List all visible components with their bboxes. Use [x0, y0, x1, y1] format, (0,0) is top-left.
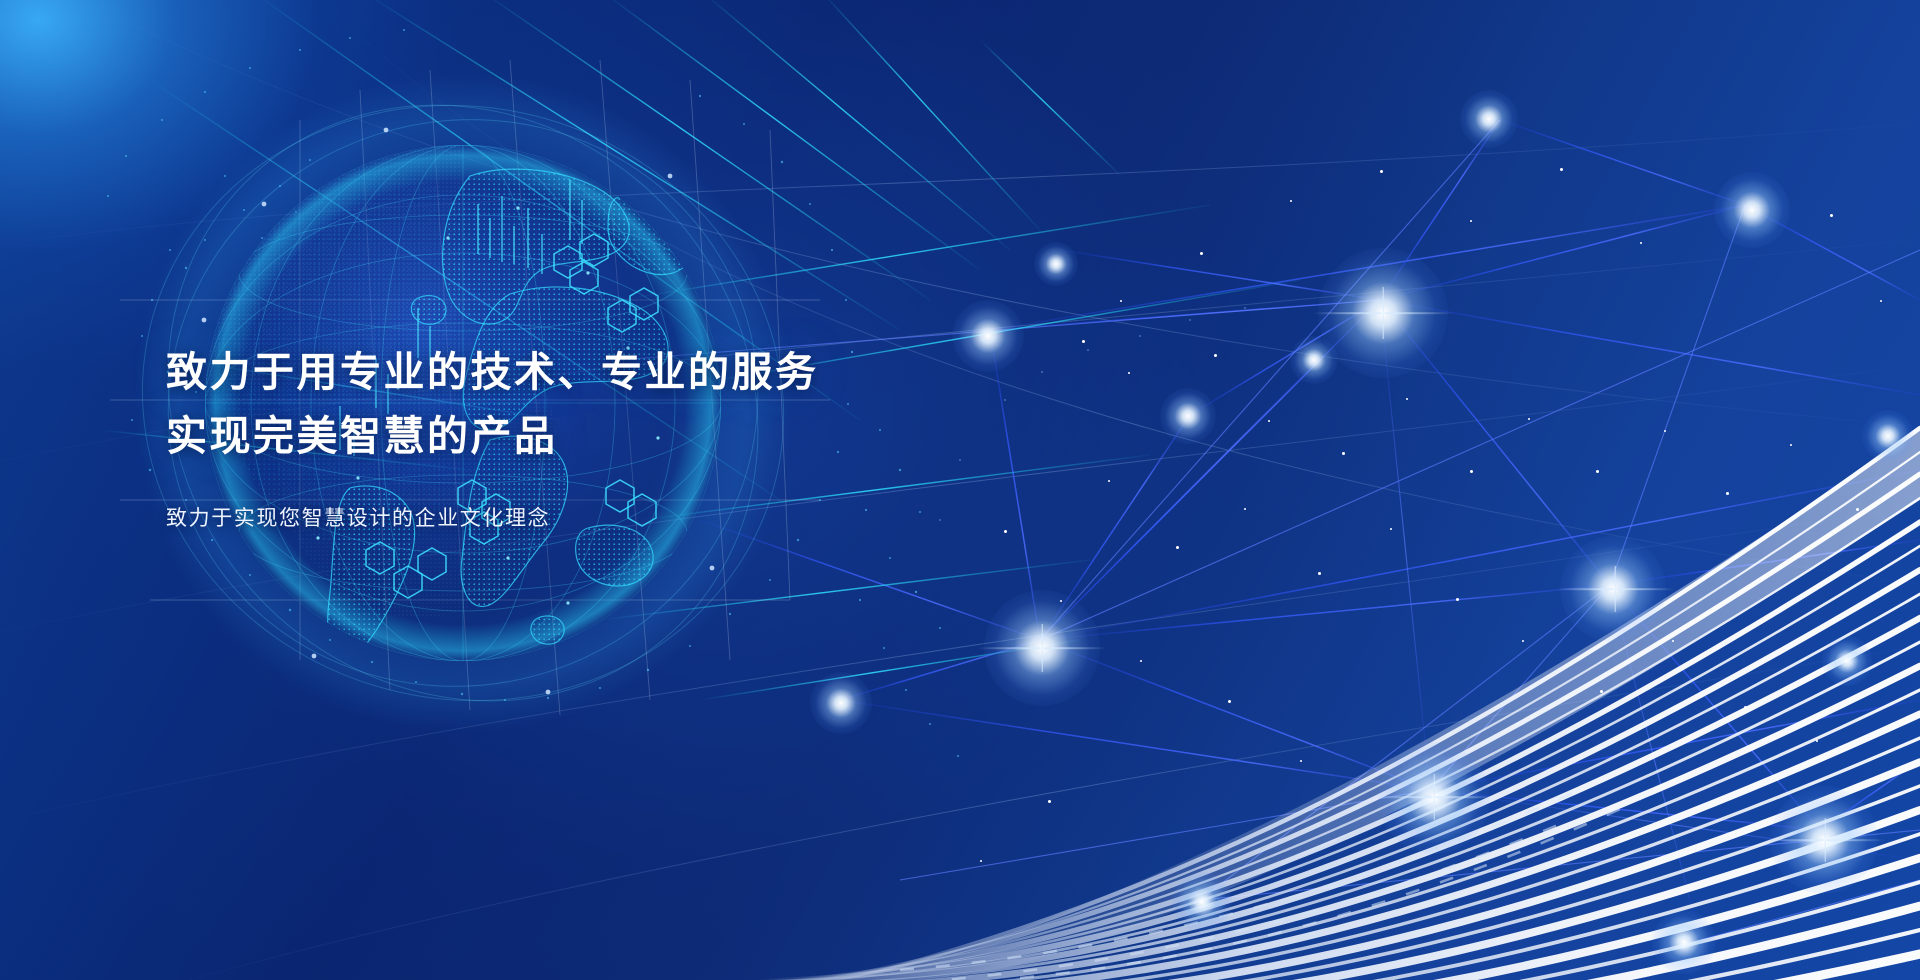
star-point — [1060, 600, 1062, 602]
star-glow — [810, 672, 872, 734]
star-glow — [984, 590, 1100, 706]
hero-banner: 致力于用专业的技术、专业的服务 实现完美智慧的产品 致力于实现您智慧设计的企业文… — [0, 0, 1920, 980]
star-point — [1342, 452, 1345, 455]
star-spark — [1766, 818, 1884, 862]
star-glow — [1652, 910, 1716, 974]
star-glow — [1290, 336, 1338, 384]
star-glow — [1172, 872, 1232, 932]
star-point — [1470, 470, 1473, 473]
star-point — [1140, 660, 1142, 662]
star-point — [1228, 700, 1231, 703]
star-glow — [1770, 786, 1878, 894]
star-glow — [1862, 410, 1914, 462]
star-glow — [1318, 248, 1448, 378]
star-point — [1830, 214, 1833, 217]
star-point — [1522, 640, 1524, 642]
star-point — [1456, 598, 1459, 601]
star-point — [1268, 420, 1270, 422]
star-point — [1108, 480, 1110, 482]
star-point — [1790, 444, 1792, 446]
star-point — [1290, 200, 1292, 202]
star-point — [1596, 470, 1599, 473]
star-spark — [978, 624, 1106, 672]
star-point — [1600, 690, 1603, 693]
star-point — [1176, 546, 1179, 549]
star-point — [1664, 430, 1666, 432]
hero-copy: 致力于用专业的技术、专业的服务 实现完美智慧的产品 致力于实现您智慧设计的企业文… — [166, 340, 1046, 532]
star-point — [1300, 760, 1302, 762]
star-point — [1244, 508, 1246, 510]
headline-line-2: 实现完美智慧的产品 — [166, 404, 1046, 468]
star-glow — [1160, 388, 1216, 444]
star-glow — [1378, 742, 1490, 854]
star-glow — [1822, 636, 1872, 686]
star-point — [1390, 528, 1392, 530]
star-point — [1816, 740, 1818, 742]
star-point — [1200, 252, 1203, 255]
star-glow — [1560, 536, 1666, 642]
star-point — [1880, 300, 1882, 302]
star-point — [1128, 372, 1130, 374]
star-point — [1560, 168, 1563, 171]
star-point — [1406, 398, 1408, 400]
star-point — [1528, 418, 1530, 420]
star-glow — [1460, 90, 1518, 148]
star-spark — [1313, 287, 1453, 339]
star-point — [1856, 508, 1859, 511]
star-point — [1082, 340, 1085, 343]
star-spark — [1374, 774, 1494, 820]
star-point — [1318, 572, 1321, 575]
star-glow — [1714, 172, 1790, 248]
star-point — [1380, 170, 1383, 173]
star-point — [1120, 300, 1122, 302]
star-point — [1672, 640, 1674, 642]
star-point — [1470, 220, 1472, 222]
star-point — [1214, 354, 1217, 357]
star-point — [980, 860, 982, 862]
star-glow — [1034, 242, 1078, 286]
star-point — [1726, 492, 1729, 495]
star-point — [1640, 242, 1642, 244]
star-point — [1744, 706, 1747, 709]
star-point — [1048, 800, 1051, 803]
headline-line-1: 致力于用专业的技术、专业的服务 — [166, 340, 1046, 404]
hero-subtitle: 致力于实现您智慧设计的企业文化理念 — [166, 502, 1046, 532]
star-spark — [1556, 566, 1674, 612]
